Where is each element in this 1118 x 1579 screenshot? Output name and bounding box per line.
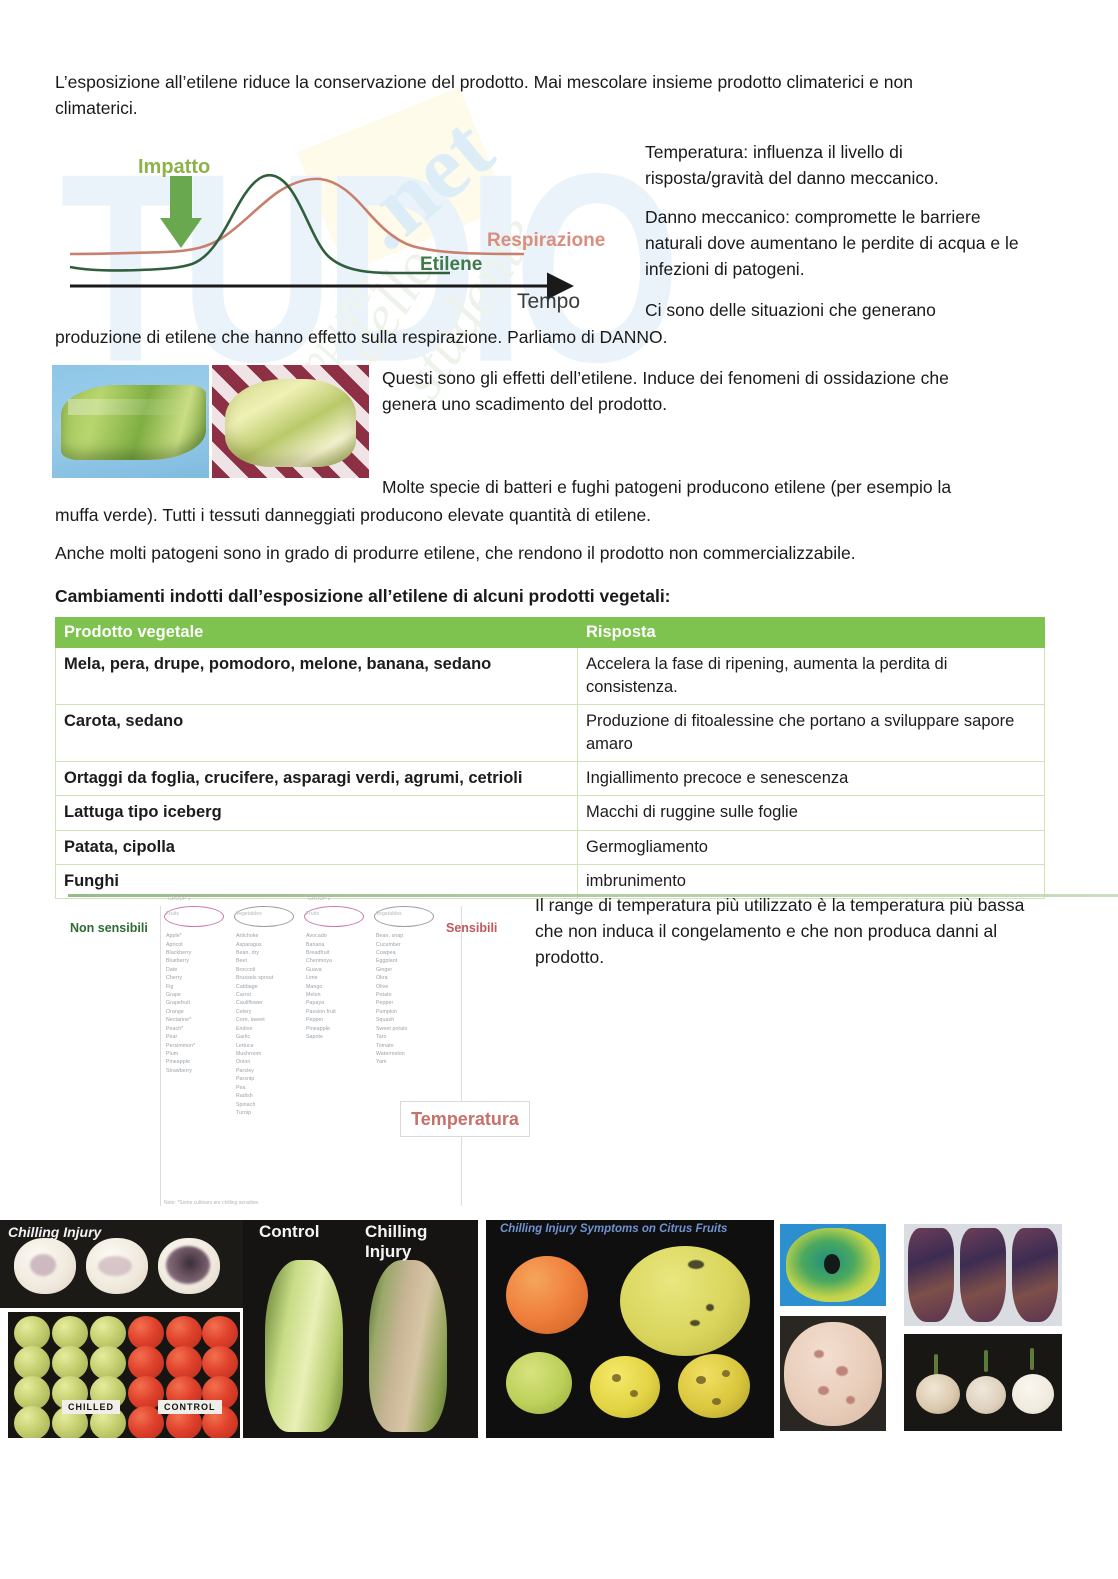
list-item: Parsnip [236,1075,302,1083]
series-etilene-path [70,175,450,273]
list-item: Mushroom [236,1050,302,1058]
caption-banana-chilling-injury: Chilling Injury [365,1222,478,1262]
paragraph-situazioni-line1: Ci sono delle situazioni che generano [645,298,1035,324]
paragraph-patogeni-line3: Anche molti patogeni sono in grado di pr… [55,541,1005,567]
group-header-1: GROUP 1 [168,896,190,902]
list-item: Melon [306,991,372,999]
label-non-sensibili: Non sensibili [70,921,148,935]
paragraph-patogeni-line2: muffa verde). Tutti i tessuti danneggiat… [55,503,1005,529]
table-cell-response: Germogliamento [578,830,1045,864]
document-page: TUDIO .net dello studente Appunti L’espo… [0,0,1118,1579]
list-item: Grapefruit [166,999,232,1007]
list-item: Pepper [376,999,442,1007]
list-item: Pea [236,1084,302,1092]
tag-chilled: CHILLED [62,1400,120,1414]
list-item: Celery [236,1008,302,1016]
caption-mango-chilling-injury: Chilling Injury [8,1224,101,1240]
list-column-fruits-sensitive: Fruits Avocado Banana Breadfruit Cherimo… [306,910,372,1042]
list-item: Broccoli [236,966,302,974]
chilling-sensitivity-slide: Non sensibili Sensibili GROUP 1 GROUP 2 … [68,888,528,1218]
table-cell-product: Patata, cipolla [56,830,578,864]
list-item: Parsley [236,1067,302,1075]
list-item: Blackberry [166,949,232,957]
citrus-lemon-spotted [590,1356,660,1418]
group-header-2: GROUP 2 [308,896,330,902]
list-column-vegetables-sensitive: Vegetables Bean, snap Cucumber Cowpea Eg… [376,910,442,1067]
mango-pit [14,1238,76,1294]
list-item: Cowpea [376,949,442,957]
chart-axis-label-tempo: Tempo [517,290,580,314]
list-item: Lime [306,974,372,982]
column-title: Fruits [166,910,232,918]
paragraph-effetti-etilene: Questi sono gli effetti dell’etilene. In… [382,366,1002,418]
table-row: Patata, cipolla Germogliamento [56,830,1045,864]
list-item: Pear [166,1033,232,1041]
list-item: Date [166,966,232,974]
list-item: Persimmon* [166,1042,232,1050]
banana-chilling-injury [369,1260,447,1432]
list-item: Pineapple [166,1058,232,1066]
list-item: Garlic [236,1033,302,1041]
paragraph-temperatura: Temperatura: influenza il livello di ris… [645,140,1020,192]
table-cell-product: Ortaggi da foglia, crucifere, asparagi v… [56,762,578,796]
mushroom-browned [916,1374,960,1414]
list-item: Eggplant [376,957,442,965]
banana-control [265,1260,343,1432]
ethylene-respiration-chart: Impatto Respirazione Etilene Tempo [62,150,622,325]
list-item: Sweet potato [376,1025,442,1033]
list-item: Blueberry [166,957,232,965]
chart-legend-respirazione: Respirazione [487,230,605,252]
chart-label-impatto: Impatto [138,156,210,179]
list-item: Cabbage [236,983,302,991]
table-header-row: Prodotto vegetale Risposta [56,618,1045,648]
citrus-lemon-spotted-2 [678,1354,750,1418]
list-item: Carrot [236,991,302,999]
scan-artifact-corner [980,14,1100,60]
list-item: Peach* [166,1025,232,1033]
citrus-pomelo [620,1246,750,1356]
ethylene-effects-table: Prodotto vegetale Risposta Mela, pera, d… [55,617,1045,899]
citrus-lime [506,1352,572,1414]
list-item: Okra [376,974,442,982]
column-title: Fruits [306,910,372,918]
list-item: Bean, snap [376,932,442,940]
photo-citrus-panel [486,1220,774,1438]
list-item: Lettuce [236,1042,302,1050]
caption-citrus-title: Chilling Injury Symptoms on Citrus Fruit… [500,1223,727,1235]
table-caption: Cambiamenti indotti dall’esposizione all… [55,584,1005,610]
list-item: Guava [306,966,372,974]
list-item: Spinach [236,1101,302,1109]
table-cell-product: Carota, sedano [56,705,578,762]
list-item: Apple* [166,932,232,940]
photo-banana-comparison: Control Chilling Injury [243,1220,478,1438]
list-item: Watermelon [376,1050,442,1058]
temperatura-callout-box: Temperatura [400,1101,530,1137]
list-item: Sapote [306,1033,372,1041]
mushroom-white [1012,1374,1054,1414]
table-cell-response: Produzione di fitoalessine che portano a… [578,705,1045,762]
list-item: Plum [166,1050,232,1058]
table-cell-response: Accelera la fase di ripening, aumenta la… [578,648,1045,705]
mango-pit [86,1238,148,1294]
impatto-arrow-icon [160,176,202,248]
table-row: Carota, sedano Produzione di fitoalessin… [56,705,1045,762]
list-item: Artichoke [236,932,302,940]
list-item: Apricot [166,941,232,949]
list-item: Ginger [376,966,442,974]
list-item: Pineapple [306,1025,372,1033]
temperatura-callout-label: Temperatura [411,1109,519,1130]
chilling-injury-gallery: Chilling Injury CHILLED CONTROL [0,1206,1118,1438]
column-title: Vegetables [376,910,442,918]
table-row: Lattuga tipo iceberg Macchi di ruggine s… [56,796,1045,830]
citrus-orange [506,1256,588,1334]
list-item: Endive [236,1025,302,1033]
list-item: Pepper [306,1016,372,1024]
list-item: Orange [166,1008,232,1016]
photo-cucumber-pitting [780,1224,886,1306]
photo-celery-oxidised [212,365,369,478]
list-item: Corn, sweet [236,1016,302,1024]
list-item: Cherimoya [306,957,372,965]
table-cell-product: Lattuga tipo iceberg [56,796,578,830]
table-header-prodotto: Prodotto vegetale [56,618,578,648]
photo-mushrooms [904,1334,1062,1431]
table-cell-response: Ingiallimento precoce e senescenza [578,762,1045,796]
list-item: Yam [376,1058,442,1066]
list-item: Radish [236,1092,302,1100]
caption-banana-control: Control [259,1222,319,1242]
table-row: Mela, pera, drupe, pomodoro, melone, ban… [56,648,1045,705]
list-item: Asparagus [236,941,302,949]
paragraph-patogeni-line1: Molte specie di batteri e fughi patogeni… [382,475,1002,501]
list-item: Pumpkin [376,1008,442,1016]
tag-control: CONTROL [158,1400,222,1414]
list-item: Grape [166,991,232,999]
list-item: Brussels sprout [236,974,302,982]
mango-pit [158,1238,220,1294]
list-item: Squash [376,1016,442,1024]
list-item: Fig [166,983,232,991]
list-item: Banana [306,941,372,949]
photo-celery-fresh [52,365,209,478]
table-cell-product: Mela, pera, drupe, pomodoro, melone, ban… [56,648,578,705]
chart-legend-etilene: Etilene [420,254,482,276]
list-item: Nectarine* [166,1016,232,1024]
photo-eggplant-rows [904,1224,1062,1326]
list-item: Beet [236,957,302,965]
list-item: Strawberry [166,1067,232,1075]
list-item: Turnip [236,1109,302,1117]
list-item: Breadfruit [306,949,372,957]
table-header-risposta: Risposta [578,618,1045,648]
list-item: Passion fruit [306,1008,372,1016]
mushroom-mid [966,1376,1006,1414]
series-respirazione-path [70,179,524,254]
list-item: Cucumber [376,941,442,949]
paragraph-situazioni-line2: produzione di etilene che hanno effetto … [55,325,975,351]
list-item: Papaya [306,999,372,1007]
list-item: Potato [376,991,442,999]
table-cell-response: Macchi di ruggine sulle foglie [578,796,1045,830]
photo-tomato-tray: CHILLED CONTROL [8,1312,240,1438]
list-item: Avocado [306,932,372,940]
list-item: Taro [376,1033,442,1041]
list-item: Tomato [376,1042,442,1050]
paragraph-intro: L’esposizione all’etilene riduce la cons… [55,70,975,122]
list-item: Cauliflower [236,999,302,1007]
list-item: Mango [306,983,372,991]
paragraph-range-temperatura: Il range di temperatura più utilizzato è… [535,893,1040,971]
list-column-vegetables-nonsensitive: Vegetables Artichoke Asparagus Bean, dry… [236,910,302,1117]
photo-potato-spots [780,1316,886,1431]
column-title: Vegetables [236,910,302,918]
label-sensibili: Sensibili [446,921,497,935]
list-item: Bean, dry [236,949,302,957]
list-column-fruits-nonsensitive: Fruits Apple* Apricot Blackberry Blueber… [166,910,232,1075]
list-item: Cherry [166,974,232,982]
list-item: Olive [376,983,442,991]
table-row: Ortaggi da foglia, crucifere, asparagi v… [56,762,1045,796]
paragraph-danno-meccanico: Danno meccanico: compromette le barriere… [645,205,1035,283]
list-item: Onion [236,1058,302,1066]
